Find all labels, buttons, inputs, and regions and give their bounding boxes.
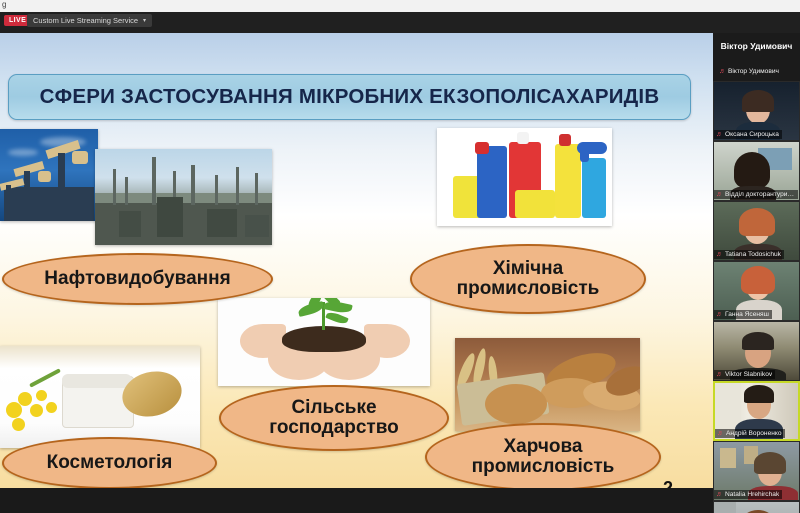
participant-name: Natalia Hrehirchak xyxy=(725,491,779,498)
participant-tile[interactable]: ♬ Оксана Сироцька xyxy=(713,81,800,141)
mic-muted-icon: ♬ xyxy=(716,371,723,378)
browser-tab-strip: g xyxy=(0,0,800,12)
participant-namebar: ♬ Оксана Сироцька xyxy=(714,130,782,139)
participant-namebar: ♬ Андрій Вороненко xyxy=(715,429,785,438)
participant-rail[interactable]: Віктор Удимович ♬ Віктор Удимович ♬ Окса… xyxy=(713,33,800,513)
participant-tile-active-speaker[interactable]: ♬ Андрій Вороненко xyxy=(713,381,800,441)
participant-name: Tatiana Todosichuk xyxy=(725,251,781,258)
participant-name: Viktor Slabnikov xyxy=(725,371,772,378)
label-chemical-line2: промисловість xyxy=(457,278,600,299)
bread-loaves-photo xyxy=(455,338,640,431)
label-oil-extraction: Нафтовидобування xyxy=(2,253,273,305)
label-agriculture-line1: Сільське xyxy=(291,397,376,418)
label-cosmetology: Косметологія xyxy=(2,437,217,488)
streaming-service-dropdown[interactable]: Custom Live Streaming Service ▾ xyxy=(27,14,152,27)
participant-namebar: ♬ Відділ докторантури і а.. xyxy=(714,190,798,199)
label-agriculture-line2: господарство xyxy=(269,417,399,438)
participant-namebar: ♬ Viktor Slabnikov xyxy=(714,370,775,379)
cosmetic-cream-jar-photo xyxy=(0,346,200,448)
label-cosmetology-text: Косметологія xyxy=(47,453,173,473)
participant-name: Віктор Удимович xyxy=(728,68,779,75)
slide-title: СФЕРИ ЗАСТОСУВАННЯ МІКРОБНИХ ЕКЗОПОЛІСАХ… xyxy=(40,85,660,109)
participant-namebar: ♬ Ганна Ясеняш xyxy=(714,310,772,319)
participant-tile[interactable]: ♬ Відділ докторантури і а.. xyxy=(713,141,800,201)
label-food-line1: Харчова xyxy=(503,436,582,457)
participant-namebar: ♬ Віктор Удимович xyxy=(717,67,782,76)
mic-muted-icon: ♬ xyxy=(716,191,723,198)
participant-name: Ганна Ясеняш xyxy=(725,311,769,318)
refinery-panorama-photo xyxy=(95,149,272,245)
mic-muted-icon: ♬ xyxy=(716,311,723,318)
participant-name: Андрій Вороненко xyxy=(726,430,782,437)
oil-pumpjacks-photo xyxy=(0,129,98,221)
tab-title: g xyxy=(2,0,6,11)
participant-name: Оксана Сироцька xyxy=(725,131,779,138)
label-agriculture: Сільське господарство xyxy=(219,385,449,451)
shared-slide-stage[interactable]: СФЕРИ ЗАСТОСУВАННЯ МІКРОБНИХ ЕКЗОПОЛІСАХ… xyxy=(0,33,713,488)
participant-tile[interactable]: ♬ Natalia Hrehirchak xyxy=(713,441,800,501)
streaming-service-label: Custom Live Streaming Service xyxy=(33,16,138,25)
participant-tile[interactable]: ♬ Ганна Ясеняш xyxy=(713,261,800,321)
chevron-down-icon: ▾ xyxy=(143,17,146,24)
slide-number: 2 xyxy=(663,478,673,488)
participant-namebar: ♬ Natalia Hrehirchak xyxy=(714,490,782,499)
cleaning-bottles-photo xyxy=(437,128,612,226)
label-oil-extraction-text: Нафтовидобування xyxy=(44,269,230,289)
mic-muted-icon: ♬ xyxy=(716,251,723,258)
participant-namebar: ♬ Tatiana Todosichuk xyxy=(714,250,784,259)
label-food-line2: промисловість xyxy=(472,456,615,477)
stage-bottom-bar xyxy=(0,488,713,513)
hands-soil-seedling-photo xyxy=(218,298,430,386)
participant-tile[interactable]: ♬ Viktoria Krasinko xyxy=(713,501,800,513)
label-food-industry: Харчова промисловість xyxy=(425,423,661,488)
label-chemical-line1: Хімічна xyxy=(493,258,563,279)
participant-tile-self[interactable]: ♬ Віктор Удимович xyxy=(713,59,800,81)
participant-tile[interactable]: ♬ Viktor Slabnikov xyxy=(713,321,800,381)
mic-muted-icon: ♬ xyxy=(717,430,724,437)
mic-muted-icon: ♬ xyxy=(716,131,723,138)
rail-header: Віктор Удимович xyxy=(713,33,800,59)
host-name: Віктор Удимович xyxy=(721,41,793,51)
slide-title-plate: СФЕРИ ЗАСТОСУВАННЯ МІКРОБНИХ ЕКЗОПОЛІСАХ… xyxy=(8,74,691,120)
mic-muted-icon: ♬ xyxy=(716,491,723,498)
video-conference-window: g LIVE Custom Live Streaming Service ▾ С… xyxy=(0,0,800,513)
label-chemical-industry: Хімічна промисловість xyxy=(410,244,646,314)
participant-name: Відділ докторантури і а.. xyxy=(725,191,795,198)
top-bar: g LIVE Custom Live Streaming Service ▾ xyxy=(0,0,800,33)
participant-tile[interactable]: ♬ Tatiana Todosichuk xyxy=(713,201,800,261)
mic-muted-icon: ♬ xyxy=(719,68,726,75)
